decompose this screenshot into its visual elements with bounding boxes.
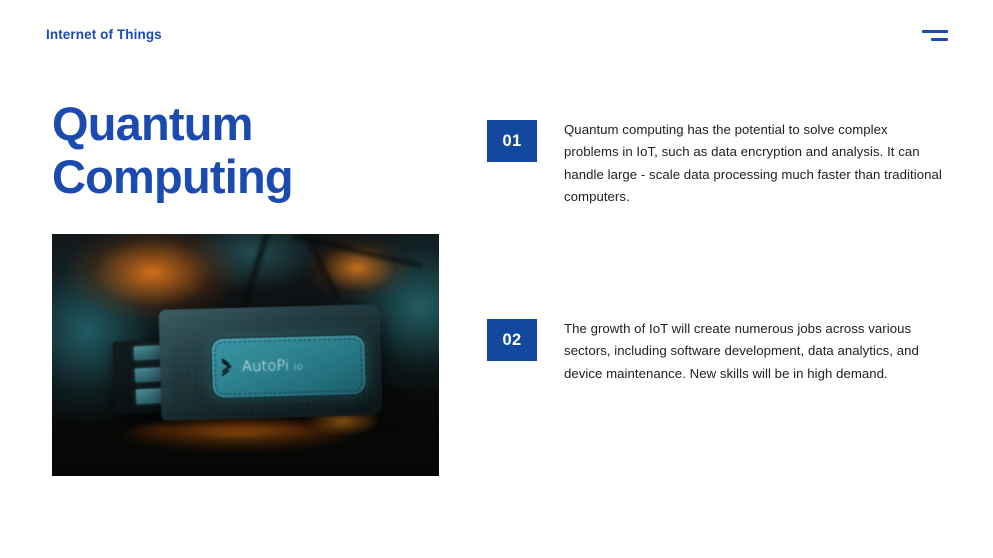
point-number-badge: 02 xyxy=(487,319,537,361)
autopi-wordmark-tld: .io xyxy=(290,361,303,372)
page-title: Quantum Computing xyxy=(52,98,452,203)
hero-image: AutoPi.io xyxy=(52,234,439,476)
slide-root: Internet of Things Quantum Computing xyxy=(0,0,993,558)
point-item-02: 02 The growth of IoT will create numerou… xyxy=(487,319,946,385)
autopi-label-plate: AutoPi.io xyxy=(210,334,366,399)
brand-title: Internet of Things xyxy=(46,28,162,42)
point-description: Quantum computing has the potential to s… xyxy=(564,119,946,209)
point-description: The growth of IoT will create numerous j… xyxy=(564,318,946,385)
points-column: 01 Quantum computing has the potential t… xyxy=(487,0,947,558)
photo-foreground-bar xyxy=(52,432,439,476)
hero-text-block: Quantum Computing xyxy=(52,98,452,203)
point-number-badge: 01 xyxy=(487,120,537,162)
autopi-wordmark: AutoPi.io xyxy=(241,358,302,374)
hero-image-photo: AutoPi.io xyxy=(52,234,439,476)
autopi-wordmark-text: AutoPi xyxy=(241,358,289,375)
point-item-01: 01 Quantum computing has the potential t… xyxy=(487,120,946,209)
autopi-chevron-logo-icon xyxy=(220,358,235,377)
